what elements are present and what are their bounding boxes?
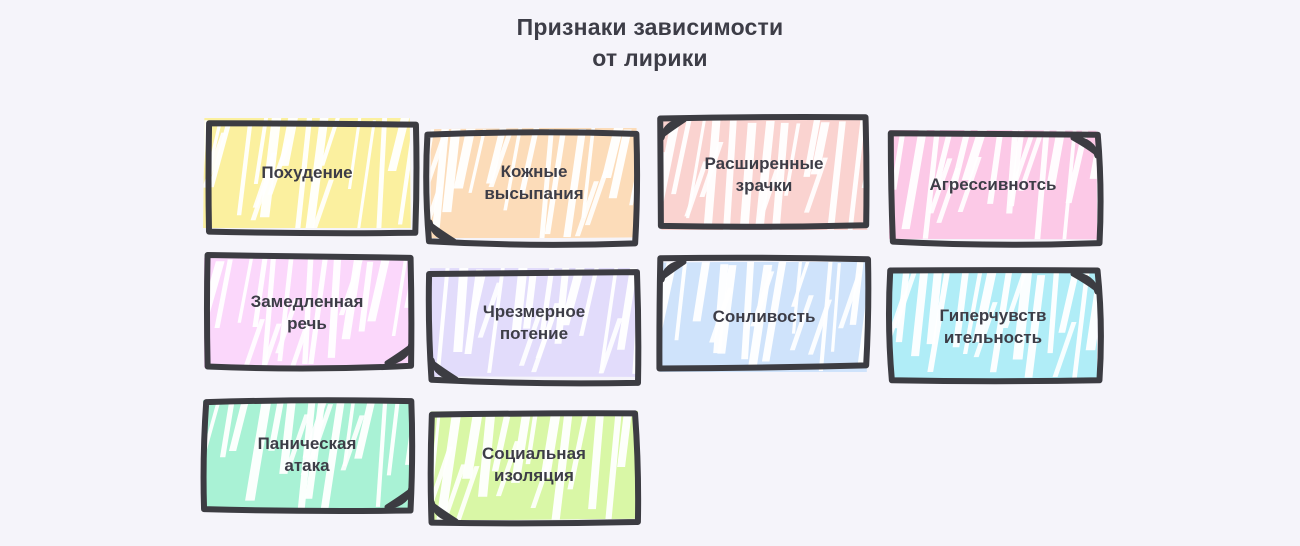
symptom-card: Сонливость bbox=[660, 262, 868, 372]
symptom-card: Социальная изоляция bbox=[430, 410, 638, 520]
card-label: Кожные высыпания bbox=[430, 128, 638, 238]
symptom-card: Гиперчувств ительность bbox=[889, 272, 1097, 382]
symptom-card: Похудение bbox=[203, 118, 411, 228]
symptom-card: Расширенные зрачки bbox=[660, 120, 868, 230]
symptom-card: Замедленная речь bbox=[203, 258, 411, 368]
symptom-card-board: ПохудениеКожные высыпанияРасширенные зра… bbox=[0, 0, 1300, 546]
card-label: Расширенные зрачки bbox=[660, 120, 868, 230]
symptom-card: Кожные высыпания bbox=[430, 128, 638, 238]
symptom-card: Агрессивнотсь bbox=[889, 130, 1097, 240]
card-label: Агрессивнотсь bbox=[889, 130, 1097, 240]
card-label: Социальная изоляция bbox=[430, 410, 638, 520]
symptom-card: Чрезмерное потение bbox=[430, 268, 638, 378]
card-label: Гиперчувств ительность bbox=[889, 272, 1097, 382]
card-label: Чрезмерное потение bbox=[430, 268, 638, 378]
symptom-card: Паническая атака bbox=[203, 400, 411, 510]
card-label: Сонливость bbox=[660, 262, 868, 372]
card-label: Паническая атака bbox=[203, 400, 411, 510]
card-label: Похудение bbox=[203, 118, 411, 228]
card-label: Замедленная речь bbox=[203, 258, 411, 368]
